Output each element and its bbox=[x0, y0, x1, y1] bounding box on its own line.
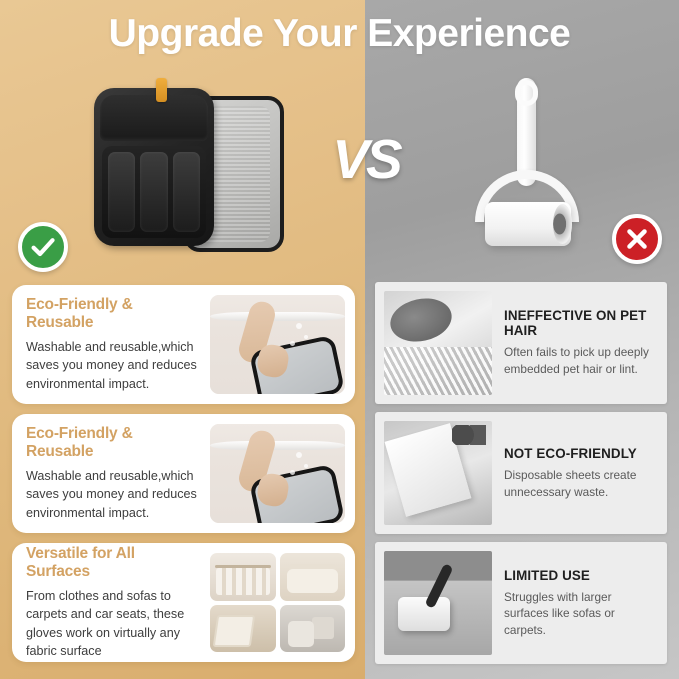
benefit-title: Versatile for All Surfaces bbox=[26, 545, 200, 581]
drawback-title: NOT ECO-FRIENDLY bbox=[504, 446, 652, 461]
check-circle-icon bbox=[18, 222, 68, 272]
benefit-body: From clothes and sofas to carpets and ca… bbox=[26, 587, 200, 660]
drawback-text: INEFFECTIVE ON PET HAIR Often fails to p… bbox=[504, 308, 658, 377]
benefits-list: Eco-Friendly & Reusable Washable and reu… bbox=[12, 285, 355, 672]
drawback-card[interactable]: LIMITED USE Struggles with larger surfac… bbox=[375, 542, 667, 664]
drawback-title: INEFFECTIVE ON PET HAIR bbox=[504, 308, 652, 338]
roller-barrel bbox=[485, 202, 571, 246]
drawback-thumbnail-cat bbox=[384, 291, 492, 395]
drawback-title: LIMITED USE bbox=[504, 568, 652, 583]
washing-glove-illustration bbox=[210, 424, 345, 523]
roller-hang-loop bbox=[515, 80, 538, 106]
drawback-card[interactable]: NOT ECO-FRIENDLY Disposable sheets creat… bbox=[375, 412, 667, 534]
benefit-text: Eco-Friendly & Reusable Washable and reu… bbox=[26, 425, 210, 522]
benefit-thumbnail bbox=[210, 295, 345, 394]
benefit-title: Eco-Friendly & Reusable bbox=[26, 425, 200, 461]
thumbnail-car-seats bbox=[280, 605, 346, 653]
drawback-body: Struggles with larger surfaces like sofa… bbox=[504, 589, 652, 639]
bubble bbox=[290, 470, 295, 475]
drawback-body: Disposable sheets create unnecessary was… bbox=[504, 467, 652, 500]
hero-image-lint-roller bbox=[455, 78, 605, 258]
drawbacks-list: INEFFECTIVE ON PET HAIR Often fails to p… bbox=[375, 282, 667, 672]
washing-glove-illustration bbox=[210, 295, 345, 394]
benefit-card[interactable]: Versatile for All Surfaces From clothes … bbox=[12, 543, 355, 662]
benefit-body: Washable and reusable,which saves you mo… bbox=[26, 467, 200, 522]
drawback-thumbnail-sheet bbox=[384, 421, 492, 525]
page-title: Upgrade Your Experience bbox=[0, 12, 679, 56]
drawback-body: Often fails to pick up deeply embedded p… bbox=[504, 344, 652, 377]
drawback-card[interactable]: INEFFECTIVE ON PET HAIR Often fails to p… bbox=[375, 282, 667, 404]
benefit-card[interactable]: Eco-Friendly & Reusable Washable and reu… bbox=[12, 414, 355, 533]
thumbnail-carpet-rug bbox=[210, 605, 276, 653]
glove-finger bbox=[140, 152, 167, 232]
drawback-thumbnail-roller bbox=[384, 551, 492, 655]
drawback-text: NOT ECO-FRIENDLY Disposable sheets creat… bbox=[504, 446, 658, 500]
benefit-title: Eco-Friendly & Reusable bbox=[26, 296, 200, 332]
comparison-infographic: Upgrade Your Experience VS Eco-Friend bbox=[0, 0, 679, 679]
waterline bbox=[210, 312, 345, 321]
benefit-text: Versatile for All Surfaces From clothes … bbox=[26, 545, 210, 660]
glove-black-side bbox=[94, 88, 214, 246]
thumbnail-clothes-closet bbox=[210, 553, 276, 601]
drawback-text: LIMITED USE Struggles with larger surfac… bbox=[504, 568, 658, 639]
benefit-thumbnail bbox=[210, 424, 345, 523]
benefit-body: Washable and reusable,which saves you mo… bbox=[26, 338, 200, 393]
glove-flap bbox=[100, 95, 208, 141]
thumbnail-sofa bbox=[280, 553, 346, 601]
glove-finger bbox=[108, 152, 135, 232]
benefit-text: Eco-Friendly & Reusable Washable and reu… bbox=[26, 296, 210, 393]
benefit-thumbnail-grid bbox=[210, 553, 345, 652]
x-circle-icon bbox=[612, 214, 662, 264]
bubble bbox=[304, 464, 308, 468]
bubble bbox=[304, 335, 308, 339]
bubble bbox=[290, 341, 295, 346]
waterline bbox=[210, 441, 345, 450]
benefit-card[interactable]: Eco-Friendly & Reusable Washable and reu… bbox=[12, 285, 355, 404]
glove-finger bbox=[173, 152, 200, 232]
glove-hang-tag bbox=[156, 78, 167, 102]
glove-pocket bbox=[102, 146, 206, 238]
vs-badge: VS bbox=[318, 128, 414, 190]
bubble bbox=[296, 323, 302, 329]
bubble bbox=[296, 452, 302, 458]
hero-image-reusable-glove bbox=[86, 78, 286, 256]
